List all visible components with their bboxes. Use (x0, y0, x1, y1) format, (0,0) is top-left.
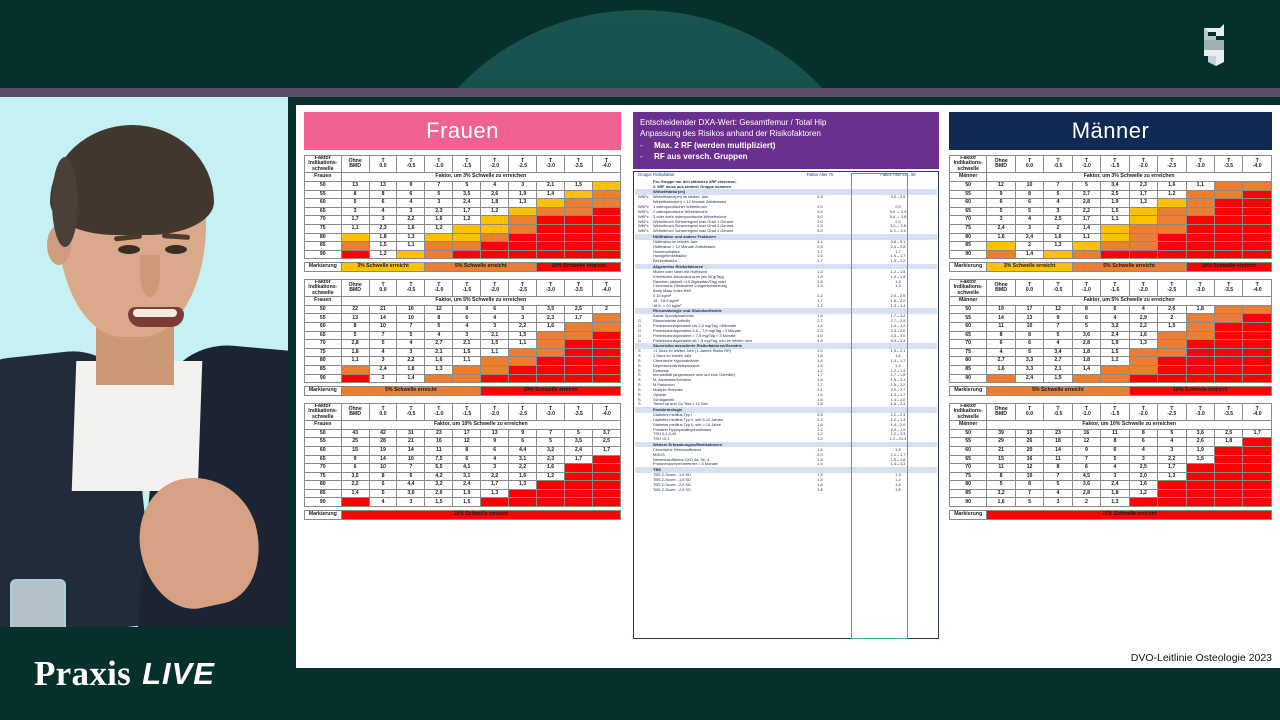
factor-cell: 3 (341, 207, 369, 216)
factor-cell: 2,1 (425, 348, 453, 357)
factor-cell: 1,2 (1101, 357, 1129, 366)
risk-factor-table-wrapper: GruppeRisikofaktorFaktor Alter 70Faktor … (633, 171, 939, 639)
factor-cell (1243, 357, 1272, 366)
factor-cell (1214, 481, 1242, 490)
factor-cell: 3 (369, 216, 397, 225)
factor-cell: 5 (453, 181, 481, 190)
factor-cell: 3,6 (1072, 331, 1100, 340)
factor-cell (537, 216, 565, 225)
factor-cell (1186, 357, 1214, 366)
factor-cell: 3,3 (1015, 357, 1043, 366)
factor-cell (565, 464, 593, 473)
factor-cell (1243, 331, 1272, 340)
factor-cell (481, 366, 509, 375)
header-t-6: T-3.0 (1186, 156, 1214, 173)
factor-cell (592, 472, 620, 481)
markierung-legend-r: 10% Schwelle erreicht (481, 387, 621, 396)
factor-cell: 8 (987, 472, 1015, 481)
header-t-0: T0.0 (1015, 279, 1043, 296)
header-t-7: T-3.5 (1214, 279, 1242, 296)
factor-cell: 2,2 (1072, 207, 1100, 216)
age-cell: 55 (305, 314, 342, 323)
factor-cell (592, 233, 620, 242)
factor-cell (1129, 224, 1157, 233)
factor-cell (1186, 481, 1214, 490)
factor-cell: 3 (509, 314, 537, 323)
factor-cell: 1,8 (397, 366, 425, 375)
dxa-bullet-1-text: Max. 2 RF (werden multipliziert) (654, 140, 775, 151)
factor-cell: 9 (453, 305, 481, 314)
factor-cell (1243, 242, 1272, 251)
factor-cell: 6 (341, 464, 369, 473)
dxa-info-box: Entscheidender DXA-Wert: Gesamtfemur / T… (633, 112, 939, 169)
factor-cell (537, 357, 565, 366)
factor-cell (1101, 250, 1129, 259)
table-row: 5514139642,92 (950, 314, 1272, 323)
factor-cell: 1,3 (509, 199, 537, 208)
teeth (133, 309, 177, 317)
factor-cell: 8 (1101, 438, 1129, 447)
factor-cell: 5 (1044, 481, 1072, 490)
markierung-legend-y: 3% Schwelle erreicht (987, 263, 1072, 272)
factor-cell: 4 (1044, 489, 1072, 498)
factor-cell (1186, 489, 1214, 498)
header-t-5: T-2.5 (1158, 403, 1186, 420)
factor-cell: 4 (425, 331, 453, 340)
factor-cell: 14 (397, 446, 425, 455)
factor-cell (1243, 190, 1272, 199)
factor-cell (425, 242, 453, 251)
factor-cell (537, 498, 565, 507)
header-t-5: T-2.5 (509, 279, 537, 296)
factor-cell (1186, 207, 1214, 216)
factor-cell (509, 366, 537, 375)
factor-cell: 1,7 (481, 481, 509, 490)
factor-cell: 3,2 (537, 446, 565, 455)
table-row: 501917128642,61,8 (950, 305, 1272, 314)
factor-cell (1243, 323, 1272, 332)
factor-cell: 4 (397, 340, 425, 349)
frauen-title: Frauen (304, 112, 621, 150)
factor-cell: 5 (1015, 207, 1043, 216)
factor-cell (1129, 366, 1157, 375)
factor-cell: 13 (1015, 314, 1043, 323)
age-cell: 75 (305, 472, 342, 481)
factor-cell: 2 (1072, 498, 1100, 507)
factor-cell: 25 (341, 438, 369, 447)
factor-cell: 7 (1044, 472, 1072, 481)
header-t-2: T-1.0 (1072, 156, 1100, 173)
header-corner: FaktorIndikations-schwelle (305, 403, 342, 420)
age-cell: 90 (305, 250, 342, 259)
factor-cell: 1,7 (1158, 464, 1186, 473)
factor-cell (1101, 242, 1129, 251)
factor-cell (397, 250, 425, 259)
factor-cell (1158, 207, 1186, 216)
factor-cell (565, 250, 593, 259)
factor-cell (592, 242, 620, 251)
factor-cell: 21 (987, 446, 1015, 455)
factor-cell (537, 224, 565, 233)
factor-cell: 6 (1129, 438, 1157, 447)
factor-cell: 6 (509, 438, 537, 447)
factor-cell: 1,2 (453, 216, 481, 225)
factor-cell (592, 366, 620, 375)
factor-cell: 1,2 (425, 224, 453, 233)
factor-cell: 11 (1044, 455, 1072, 464)
header-t-1: T-0.5 (397, 156, 425, 173)
header-t-7: T-3.5 (565, 156, 593, 173)
factor-cell (1214, 199, 1242, 208)
age-cell: 60 (305, 323, 342, 332)
table-row: 802,73,32,71,81,2 (950, 357, 1272, 366)
header-t-4: T-2.0 (481, 156, 509, 173)
header-t-4: T-2.0 (1129, 156, 1157, 173)
frauen-tables-container: FaktorIndikations-schwelleOhneBMDT0.0T-0… (296, 155, 629, 520)
factor-cell: 5 (369, 489, 397, 498)
factor-cell: 1,3 (1158, 472, 1186, 481)
factor-cell: 13 (341, 314, 369, 323)
header-t-3: T-1.5 (453, 403, 481, 420)
factor-cell (592, 348, 620, 357)
factor-cell: 3,5 (537, 305, 565, 314)
factor-cell (1243, 348, 1272, 357)
factor-cell (1214, 224, 1242, 233)
factor-cell (1243, 455, 1272, 464)
age-cell: 50 (305, 429, 342, 438)
factor-cell (509, 207, 537, 216)
header-t-2: T-1.0 (1072, 403, 1100, 420)
factor-cell: 5 (1072, 181, 1100, 190)
factor-cell: 5 (565, 429, 593, 438)
maenner-title: Männer (949, 112, 1272, 150)
factor-cell: 4,4 (397, 481, 425, 490)
factor-cell (481, 250, 509, 259)
factor-cell (592, 489, 620, 498)
factor-cell: 3 (481, 323, 509, 332)
factor-cell: 29 (987, 438, 1015, 447)
sex-label: Frauen (305, 173, 342, 182)
factor-cell: 2,3 (1129, 181, 1157, 190)
factor-cell (1186, 366, 1214, 375)
factor-cell (1243, 481, 1272, 490)
factor-cell (1214, 190, 1242, 199)
factor-cell: 12 (1044, 305, 1072, 314)
table-subtitle: Faktor, um 5% Schwelle zu erreichen (987, 297, 1272, 306)
age-cell: 70 (305, 464, 342, 473)
factor-cell (481, 357, 509, 366)
table-row: 5525282116129653,52,5 (305, 438, 621, 447)
factor-cell: 1,6 (1129, 331, 1157, 340)
factor-cell (1243, 374, 1272, 383)
factor-cell: 7 (425, 181, 453, 190)
table-row: 852,41,81,3 (305, 366, 621, 375)
rf-header-gruppe: Gruppe (635, 173, 652, 180)
table-row: 501210753,42,31,61,1 (950, 181, 1272, 190)
table-row: 65575432,11,5 (305, 331, 621, 340)
factor-cell (1158, 481, 1186, 490)
factor-cell (1186, 216, 1214, 225)
factor-cell: 42 (369, 429, 397, 438)
factor-cell: 7 (1015, 489, 1043, 498)
factor-cell: 1,5 (565, 181, 593, 190)
age-cell: 65 (305, 455, 342, 464)
header-t-8: T-4.0 (592, 156, 620, 173)
factor-cell (509, 498, 537, 507)
header-t-1: T-0.5 (1044, 403, 1072, 420)
factor-cell (509, 250, 537, 259)
markierung-legend-o: 5% Schwelle erreicht (987, 387, 1129, 396)
factor-cell: 1,3 (1101, 498, 1129, 507)
table-row: 702,8542,72,11,51,1 (305, 340, 621, 349)
factor-cell (1186, 374, 1214, 383)
factor-cell: 2,3 (537, 314, 565, 323)
factor-cell (1186, 472, 1214, 481)
factor-cell: 1,5 (481, 340, 509, 349)
header-t-6: T-3.0 (537, 279, 565, 296)
factor-cell (1214, 305, 1242, 314)
heat-table-frauen-3: FaktorIndikations-schwelleOhneBMDT0.0T-0… (304, 155, 621, 272)
factor-cell (509, 216, 537, 225)
factor-cell (565, 199, 593, 208)
factor-cell (987, 250, 1015, 259)
factor-cell: 10 (1015, 472, 1043, 481)
factor-cell: 9 (987, 190, 1015, 199)
header-t-4: T-2.0 (1129, 279, 1157, 296)
factor-cell (1158, 348, 1186, 357)
header-t-5: T-2.5 (509, 156, 537, 173)
factor-cell: 39 (987, 429, 1015, 438)
factor-cell: 1,6 (1158, 181, 1186, 190)
factor-cell (1158, 331, 1186, 340)
factor-cell (1158, 357, 1186, 366)
factor-cell (1186, 199, 1214, 208)
factor-cell: 2,6 (481, 190, 509, 199)
factor-cell: 1,7 (1072, 216, 1100, 225)
factor-cell: 7 (537, 429, 565, 438)
factor-cell: 3,6 (397, 489, 425, 498)
factor-cell (1158, 242, 1186, 251)
factor-cell: 6 (453, 455, 481, 464)
factor-cell (1243, 305, 1272, 314)
factor-cell: 3 (1015, 224, 1043, 233)
factor-cell: 1,1 (509, 340, 537, 349)
factor-cell: 11 (1101, 429, 1129, 438)
factor-cell: 5 (509, 305, 537, 314)
header-t-0: T0.0 (1015, 403, 1043, 420)
factor-cell: 20 (1015, 446, 1043, 455)
factor-cell (592, 181, 620, 190)
table-row: 503933231611853,62,51,7 (950, 429, 1272, 438)
age-cell: 75 (950, 348, 987, 357)
table-row: 751,8432,11,51,1 (305, 348, 621, 357)
header-t-8: T-4.0 (1243, 156, 1272, 173)
factor-cell: 1,8 (1214, 438, 1242, 447)
age-cell: 85 (305, 489, 342, 498)
factor-cell: 1,1 (341, 224, 369, 233)
factor-cell: 4 (1129, 305, 1157, 314)
header-ohne-bmd: OhneBMD (341, 279, 369, 296)
age-cell: 75 (305, 224, 342, 233)
table-row: 901,4 (950, 250, 1272, 259)
factor-cell: 9 (1072, 446, 1100, 455)
factor-cell: 3 (1101, 472, 1129, 481)
factor-cell: 4,5 (1072, 472, 1100, 481)
markierung-row: Markierung3% Schwelle erreicht5% Schwell… (950, 263, 1272, 272)
factor-cell (537, 233, 565, 242)
heat-table-maenner-5: FaktorIndikations-schwelleOhneBMDT0.0T-0… (949, 279, 1272, 396)
factor-cell: 8 (369, 472, 397, 481)
factor-cell (1158, 216, 1186, 225)
factor-cell (1214, 314, 1242, 323)
factor-cell: 2,2 (1129, 323, 1157, 332)
header-t-5: T-2.5 (1158, 156, 1186, 173)
factor-cell (341, 242, 369, 251)
dxa-line-2: Anpassung des Risikos anhand der Risikof… (640, 128, 932, 139)
header-t-6: T-3.0 (537, 403, 565, 420)
factor-cell (453, 224, 481, 233)
factor-cell (1158, 366, 1186, 375)
factor-cell (565, 357, 593, 366)
factor-cell (1072, 374, 1100, 383)
factor-cell: 5 (341, 199, 369, 208)
factor-cell: 4 (1129, 446, 1157, 455)
header-t-8: T-4.0 (1243, 403, 1272, 420)
factor-cell (1214, 340, 1242, 349)
header-t-6: T-3.0 (1186, 403, 1214, 420)
factor-cell: 1,3 (397, 233, 425, 242)
factor-cell: 3,1 (453, 472, 481, 481)
age-cell: 70 (950, 340, 987, 349)
factor-cell: 8 (987, 331, 1015, 340)
factor-cell (1186, 233, 1214, 242)
factor-cell (1243, 366, 1272, 375)
factor-cell: 1,1 (453, 357, 481, 366)
factor-cell (1243, 216, 1272, 225)
factor-cell (341, 498, 369, 507)
factor-cell: 2,8 (1072, 199, 1100, 208)
factor-cell: 15 (341, 446, 369, 455)
age-cell: 55 (950, 438, 987, 447)
table-row: 7061075,54,132,21,6 (305, 464, 621, 473)
factor-cell (1129, 348, 1157, 357)
factor-cell: 1,4 (537, 190, 565, 199)
factor-cell: 1,1 (341, 357, 369, 366)
factor-cell: 8 (1129, 429, 1157, 438)
factor-cell (565, 216, 593, 225)
factor-cell (592, 464, 620, 473)
factor-cell: 33 (1015, 429, 1043, 438)
factor-cell: 1,2 (369, 250, 397, 259)
heat-table-maenner-10: FaktorIndikations-schwelleOhneBMDT0.0T-0… (949, 403, 1272, 520)
factor-cell: 1,7 (565, 314, 593, 323)
age-cell: 80 (950, 481, 987, 490)
age-cell: 65 (305, 331, 342, 340)
factor-cell: 1,5 (369, 242, 397, 251)
factor-cell: 17 (453, 429, 481, 438)
factor-cell: 6 (1101, 446, 1129, 455)
header-corner: FaktorIndikations-schwelle (305, 156, 342, 173)
factor-cell: 3 (397, 498, 425, 507)
factor-cell: 4 (369, 498, 397, 507)
factor-cell: 1,3 (481, 489, 509, 498)
factor-cell: 17 (1015, 305, 1043, 314)
table-row: 5513141086432,31,7 (305, 314, 621, 323)
age-cell: 85 (950, 489, 987, 498)
header-t-5: T-2.5 (509, 403, 537, 420)
table-row: 653432,31,71,2 (305, 207, 621, 216)
dash-marker: - (640, 140, 654, 151)
factor-cell: 3 (397, 207, 425, 216)
factor-cell: 2 (369, 374, 397, 383)
table-row: 751,12,31,61,2 (305, 224, 621, 233)
factor-cell: 2,6 (425, 489, 453, 498)
age-cell: 55 (305, 438, 342, 447)
markierung-row: Markierung5% Schwelle erreicht10% Schwel… (305, 387, 621, 396)
factor-cell: 2,4 (1015, 233, 1043, 242)
factor-cell: 3 (369, 357, 397, 366)
factor-cell: 16 (425, 438, 453, 447)
table-row: 606642,81,91,3 (950, 199, 1272, 208)
markierung-legend-r: 10% Schwelle erreicht (987, 511, 1272, 520)
factor-cell: 5 (1072, 323, 1100, 332)
rf-name: TBS Z-Score: -2,5 SD (652, 487, 781, 492)
factor-cell: 5 (1015, 348, 1043, 357)
factor-cell: 2,5 (1129, 464, 1157, 473)
sex-label: Männer (950, 421, 987, 430)
header-t-2: T-1.0 (425, 403, 453, 420)
header-t-3: T-1.5 (453, 156, 481, 173)
factor-cell: 2,4 (565, 446, 593, 455)
maenner-tables-container: FaktorIndikations-schwelleOhneBMDT0.0T-0… (941, 155, 1280, 520)
factor-cell: 6 (1015, 340, 1043, 349)
factor-cell (509, 357, 537, 366)
markierung-row: Markierung3% Schwelle erreicht5% Schwell… (305, 263, 621, 272)
factor-cell (509, 233, 537, 242)
factor-cell: 1,5 (509, 331, 537, 340)
factor-cell: 28 (369, 438, 397, 447)
factor-cell: 8 (1015, 190, 1043, 199)
slide-source-note: DVO-Leitlinie Osteologie 2023 (1131, 652, 1272, 664)
dxa-bullet-2: - RF aus versch. Gruppen (640, 151, 932, 162)
factor-cell (592, 455, 620, 464)
factor-cell: 3,4 (1044, 348, 1072, 357)
factor-cell: 4 (1101, 314, 1129, 323)
factor-cell (341, 366, 369, 375)
factor-cell (1129, 498, 1157, 507)
table-subtitle: Faktor, um 3% Schwelle zu erreichen (341, 173, 620, 182)
factor-cell (565, 498, 593, 507)
factor-cell: 12 (987, 181, 1015, 190)
header-ohne-bmd: OhneBMD (987, 156, 1015, 173)
factor-cell (453, 250, 481, 259)
age-cell: 85 (950, 242, 987, 251)
factor-cell: 2,4 (453, 199, 481, 208)
factor-cell: 1,1 (1072, 233, 1100, 242)
factor-cell (1129, 233, 1157, 242)
factor-cell: 1,8 (1072, 357, 1100, 366)
factor-cell: 3,5 (341, 472, 369, 481)
factor-cell: 15 (987, 455, 1015, 464)
purple-divider-band (0, 88, 1280, 97)
factor-cell (1243, 314, 1272, 323)
hair-side (52, 157, 78, 247)
factor-cell (1129, 216, 1157, 225)
factor-cell: 1,2 (1129, 489, 1157, 498)
age-cell: 60 (950, 199, 987, 208)
rf-header-faktor-70: Faktor Alter 70 (781, 173, 859, 180)
factor-cell: 1,9 (1101, 340, 1129, 349)
